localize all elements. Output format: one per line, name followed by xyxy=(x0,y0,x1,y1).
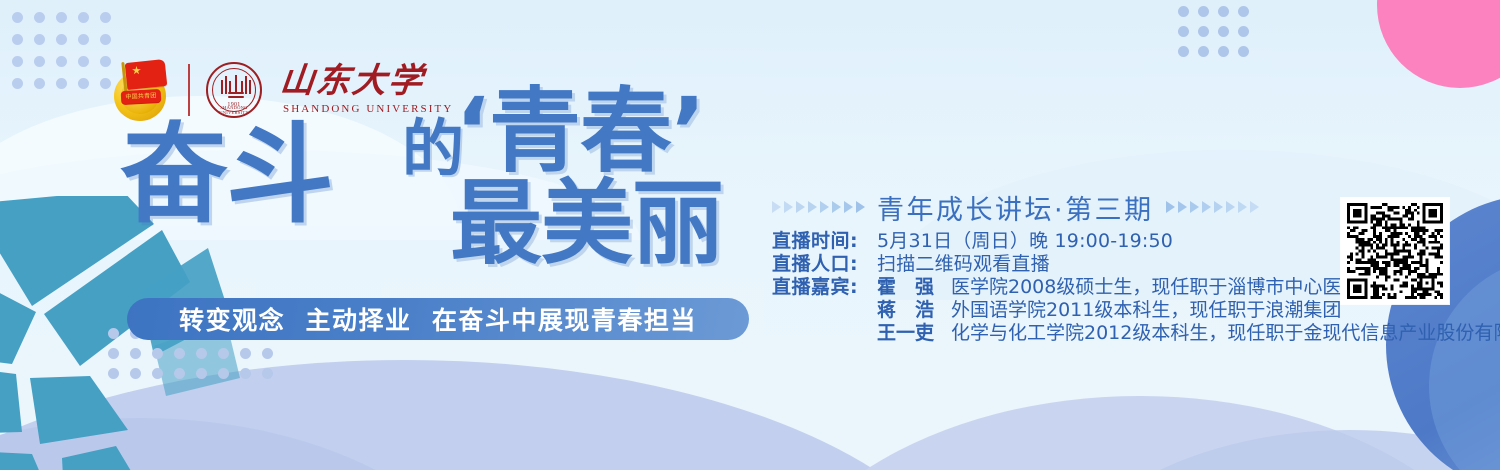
arrow-markers-right-icon xyxy=(1166,201,1259,213)
guest-name-2: 蒋 浩 xyxy=(877,299,951,322)
headline-particle-de: 的 xyxy=(402,120,462,177)
info-value-time: 5月31日（周日）晚 19:00-19:50 xyxy=(877,230,1173,253)
info-row-time: 直播时间: 5月31日（周日）晚 19:00-19:50 xyxy=(772,230,1372,253)
headline-line-3: 最美丽 xyxy=(450,182,723,267)
headline-line-2: ‘青春’ xyxy=(455,90,705,175)
info-label-time: 直播时间: xyxy=(772,230,877,253)
arrow-markers-left-icon xyxy=(772,201,865,213)
league-band-label: 中国共青团 xyxy=(121,90,161,101)
dot-grid-top-left xyxy=(12,12,122,100)
info-row-guest-1: 直播嘉宾: 霍 强 医学院2008级硕士生，现任职于淄博市中心医院 xyxy=(772,276,1372,299)
headline-line-1: 奋斗 xyxy=(120,126,332,225)
info-label-entry: 直播人口: xyxy=(772,253,877,276)
university-name-cn: 山东大学 xyxy=(278,65,426,99)
guest-desc-2: 外国语学院2011级本科生，现任职于浪潮集团 xyxy=(951,299,1341,322)
info-row-entry: 直播人口: 扫描二维码观看直播 xyxy=(772,253,1372,276)
guest-desc-3: 化学与化工学院2012级本科生，现任职于金现代信息产业股份有限公司 xyxy=(951,322,1500,345)
forum-title: 青年成长讲坛·第三期 xyxy=(877,188,1154,227)
headline-subtitle-pill: 转变观念 主动择业 在奋斗中展现青春担当 xyxy=(127,298,749,340)
guest-name-3: 王一吏 xyxy=(877,322,951,345)
info-lines: 直播时间: 5月31日（周日）晚 19:00-19:50 直播人口: 扫描二维码… xyxy=(772,230,1372,345)
banner-canvas: 中国共青团 1901 SHANDONG UNIVERSITY 山东大学 SHAN… xyxy=(0,0,1500,470)
headline-group: 奋斗 的 ‘青春’ 最美丽 xyxy=(120,108,760,298)
guest-desc-1: 医学院2008级硕士生，现任职于淄博市中心医院 xyxy=(951,276,1360,299)
headline-subtitle-text: 转变观念 主动择业 在奋斗中展现青春担当 xyxy=(179,301,697,337)
info-label-guests: 直播嘉宾: xyxy=(772,276,877,299)
dot-grid-top-right xyxy=(1178,0,1258,66)
info-row-guest-3: 王一吏 化学与化工学院2012级本科生，现任职于金现代信息产业股份有限公司 xyxy=(772,322,1372,345)
info-value-entry: 扫描二维码观看直播 xyxy=(877,253,1050,276)
info-panel: 青年成长讲坛·第三期 直播时间: 5月31日（周日）晚 19:00-19:50 … xyxy=(772,192,1372,345)
guest-name-1: 霍 强 xyxy=(877,276,951,299)
livestream-qr-code[interactable] xyxy=(1341,198,1449,304)
info-row-guest-2: 蒋 浩 外国语学院2011级本科生，现任职于浪潮集团 xyxy=(772,299,1372,322)
forum-title-row: 青年成长讲坛·第三期 xyxy=(772,192,1372,222)
